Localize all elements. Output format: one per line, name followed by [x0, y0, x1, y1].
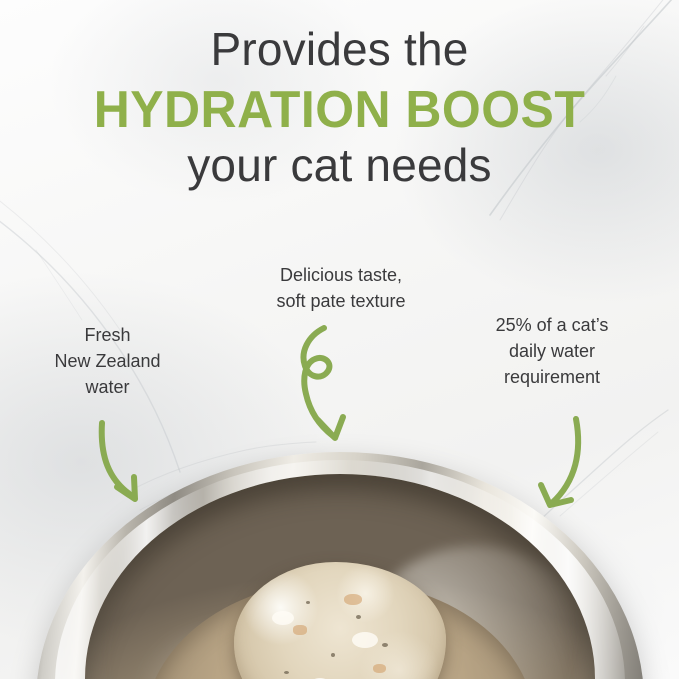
headline-line-3: your cat needs — [0, 140, 679, 190]
promo-image: Provides the HYDRATION BOOST your cat ne… — [0, 0, 679, 679]
headline-line-1: Provides the — [0, 24, 679, 74]
callout-left-line-1: Fresh — [20, 322, 195, 348]
callout-fresh-new-zealand-water: Fresh New Zealand water — [20, 322, 195, 400]
headline-line-2-accent: HYDRATION BOOST — [14, 82, 666, 138]
callout-left-line-2: New Zealand — [20, 348, 195, 374]
callout-right-line-1: 25% of a cat’s — [462, 312, 642, 338]
callout-mid-line-2: soft pate texture — [236, 288, 446, 314]
callout-daily-water-requirement: 25% of a cat’s daily water requirement — [462, 312, 642, 390]
callout-mid-line-1: Delicious taste, — [236, 262, 446, 288]
callout-delicious-taste: Delicious taste, soft pate texture — [236, 262, 446, 314]
callout-left-line-3: water — [20, 374, 195, 400]
callout-right-line-2: daily water — [462, 338, 642, 364]
callout-right-line-3: requirement — [462, 364, 642, 390]
cat-bowl — [0, 430, 679, 679]
